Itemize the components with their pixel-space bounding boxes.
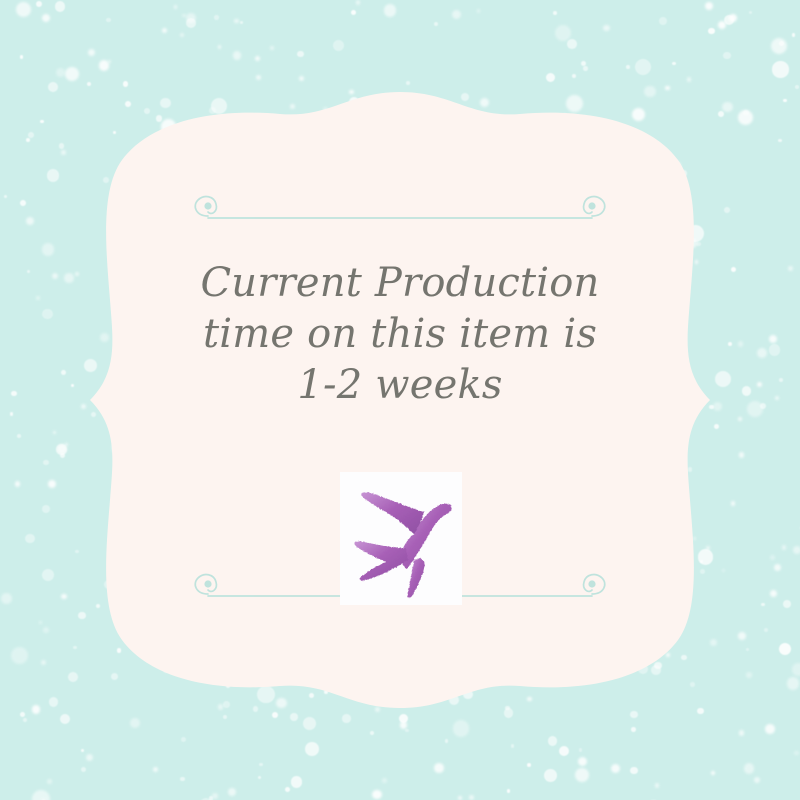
- announcement-graphic: Current Production time on this item is …: [0, 0, 800, 800]
- page-title: Current Production time on this item is …: [130, 258, 670, 411]
- bird-image: [340, 472, 462, 605]
- bird-icon: [340, 472, 462, 605]
- divider-top: [186, 188, 614, 234]
- flourish-divider-icon: [186, 188, 614, 234]
